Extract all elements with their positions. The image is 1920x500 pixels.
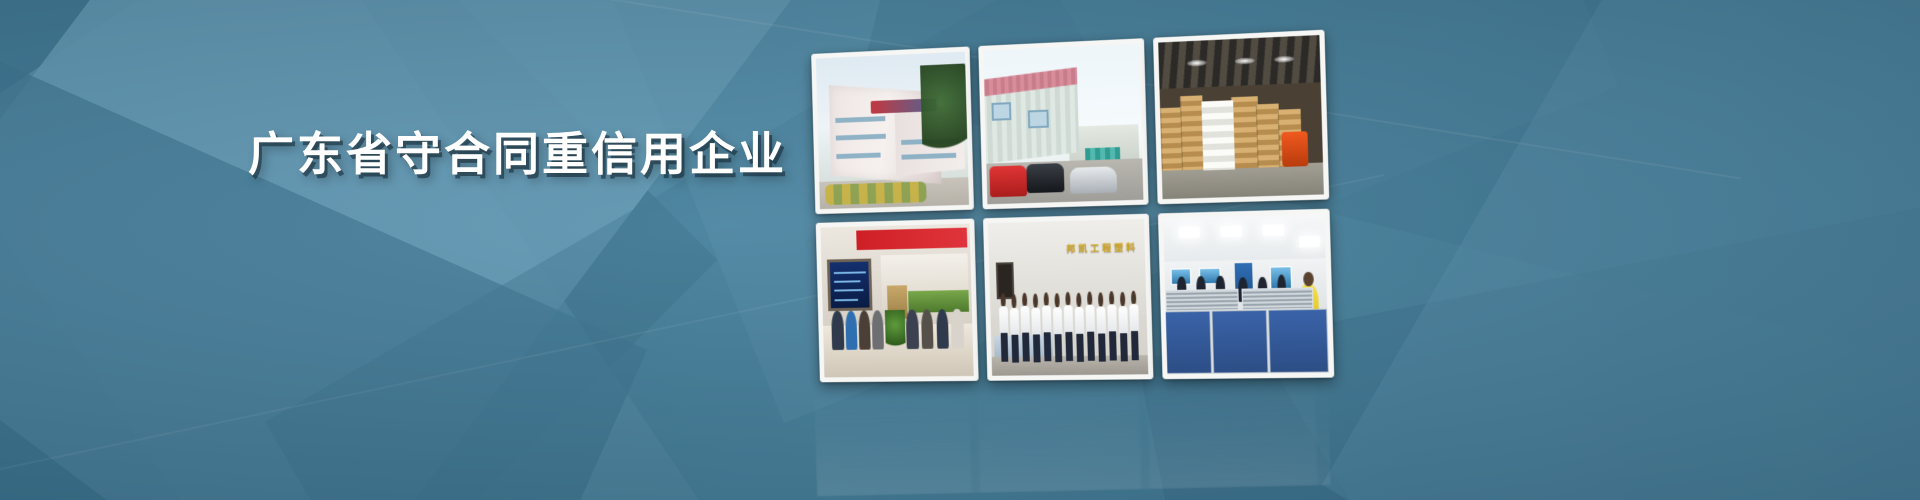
photo-plant-entrance-scene: [984, 43, 1144, 203]
photo-grid: Factory office building exterior with co…: [811, 30, 1334, 383]
photo-office[interactable]: Open plan office with blue cubicle works…: [1158, 208, 1335, 379]
banner-headline: 广东省守合同重信用企业: [248, 128, 787, 181]
lobby-wall-text: 邦凯工程塑料: [1066, 240, 1138, 255]
photo-training-meeting[interactable]: Staff conference and training meeting wi…: [816, 218, 979, 382]
photo-office-scene: [1163, 213, 1329, 374]
photo-plant-entrance[interactable]: Plant building with pink roofline and pa…: [979, 38, 1149, 209]
photo-warehouse[interactable]: Raw material warehouse with stacked sack…: [1153, 30, 1330, 204]
promo-banner: 广东省守合同重信用企业 Factory office building ex: [0, 0, 1920, 500]
photo-warehouse-scene: [1158, 35, 1324, 199]
photo-staff-group-scene: 邦凯工程塑料: [988, 218, 1148, 375]
photo-grid-reflection: [814, 372, 1331, 497]
photo-factory-exterior[interactable]: Factory office building exterior with co…: [811, 46, 974, 213]
photo-factory-exterior-scene: [816, 52, 969, 209]
photo-training-meeting-scene: [820, 223, 974, 377]
photo-staff-group[interactable]: 邦凯工程塑料 Employee group photo in lobby: [983, 213, 1153, 381]
